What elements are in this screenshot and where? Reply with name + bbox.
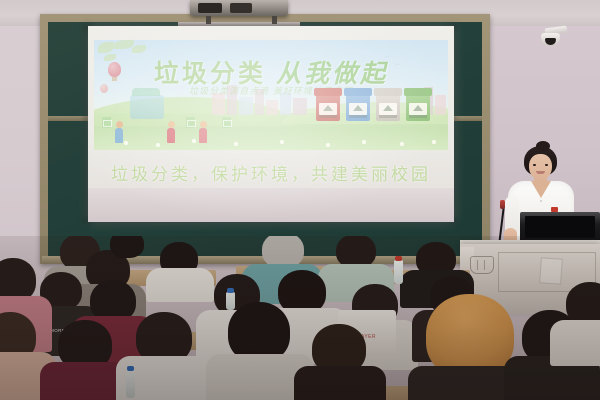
ceiling-projector [190, 0, 288, 16]
head [110, 236, 144, 258]
presenter-eye-right [545, 164, 548, 166]
flower-icon [280, 140, 284, 144]
audience: NO TOMORROW ON PLAYER [0, 236, 600, 400]
slide-banner-image: 垃圾分类从我做起 垃圾分类源自点滴 美好环境始于言行 [94, 40, 448, 150]
figure-body [199, 128, 207, 143]
figure-body [115, 128, 123, 143]
recycle-symbol-icon [323, 105, 333, 111]
presenter-face [529, 154, 552, 180]
recycle-symbol-icon [413, 105, 423, 111]
presenter-eye-left [533, 164, 536, 166]
head [228, 302, 290, 362]
flower-icon [362, 140, 366, 144]
projector-mount-left [206, 16, 211, 24]
building-shape [293, 98, 307, 115]
recycling-cart-illustration [130, 95, 164, 119]
small-recycle-bin-icon [186, 117, 195, 128]
hazardous-waste-bin [316, 94, 340, 121]
building-shape [435, 95, 446, 115]
flower-icon [192, 139, 196, 143]
bin-lid [374, 88, 402, 96]
flower-icon [326, 143, 330, 147]
flower-icon [156, 143, 160, 147]
torso [146, 268, 214, 302]
water-bottle [394, 260, 403, 284]
recycle-symbol-icon [353, 105, 363, 111]
microphone-icon [500, 200, 505, 209]
presenter-hair-bun [536, 141, 550, 151]
projector-vent [230, 3, 252, 13]
bin-label-text [409, 115, 427, 118]
screen-lower-area [88, 188, 454, 222]
flower-icon [234, 142, 238, 146]
torso [550, 320, 600, 366]
projector-lens-icon [198, 3, 222, 13]
building-shape [239, 97, 253, 115]
food-waste-bin [406, 94, 430, 121]
slide-caption: 垃圾分类，保护环境，共建美丽校园 [88, 160, 454, 185]
bin-lid [344, 88, 372, 96]
flower-icon [124, 141, 128, 145]
projection-screen: 垃圾分类从我做起 垃圾分类源自点滴 美好环境始于言行 [88, 26, 454, 222]
flower-icon [432, 140, 436, 144]
classroom-photo: 垃圾分类从我做起 垃圾分类源自点滴 美好环境始于言行 [0, 0, 600, 400]
building-shape [266, 100, 278, 115]
bin-lid [314, 88, 342, 96]
bin-label-text [349, 115, 367, 118]
recycle-symbol-icon [383, 105, 393, 111]
recyclable-waste-bin [346, 94, 370, 121]
bin-lid [404, 88, 432, 96]
monitor-screen [525, 216, 595, 238]
water-bottle [226, 292, 235, 310]
bin-label-text [319, 115, 337, 118]
small-recycle-bin-icon [222, 117, 231, 128]
projector-mount-right [272, 16, 277, 24]
blouse-button [540, 200, 542, 202]
small-recycle-bin-icon [102, 117, 111, 128]
flower-icon [400, 142, 404, 146]
other-waste-bin [376, 94, 400, 121]
torso [294, 366, 386, 400]
bin-label-text [379, 115, 397, 118]
figure-body [167, 128, 175, 143]
water-bottle [126, 370, 135, 398]
